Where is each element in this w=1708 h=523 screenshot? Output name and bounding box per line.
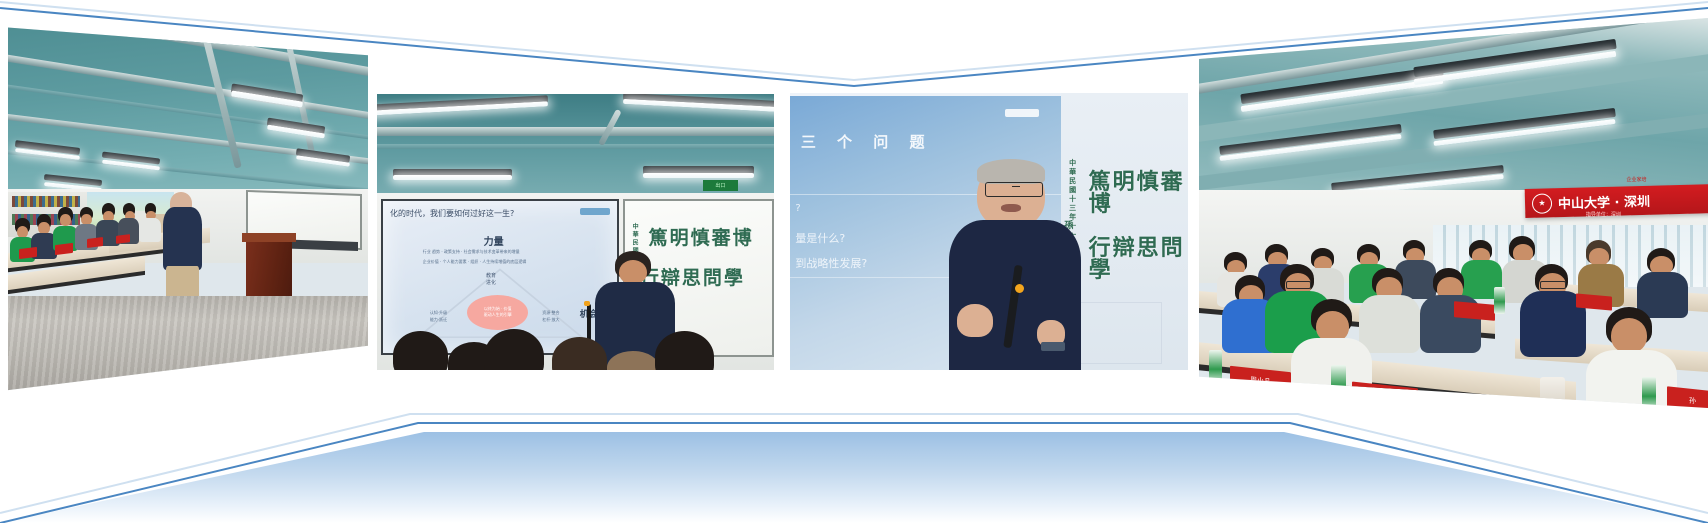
water-bottle: [1209, 350, 1222, 385]
slide-center-circle: 以终为始 · 价值 驱动人生的引擎: [467, 295, 528, 330]
slide-title: 化的时代，我们要如何过好这一生?: [390, 208, 514, 219]
slide-title: 三 个 问 题: [801, 131, 933, 152]
slide-node-right: 资源·整合 杠杆·放大: [542, 310, 559, 323]
name-card: 周小凡: [1230, 366, 1291, 396]
glasses-icon: [1286, 281, 1311, 289]
glasses-icon: [1540, 281, 1566, 289]
name-card: [19, 247, 37, 259]
water-bottle: [1494, 287, 1505, 314]
name-card: [1454, 301, 1495, 320]
bottom-gradient-panel: [0, 393, 1708, 523]
slide-node-top: 教育 进化: [486, 272, 496, 286]
photo-audience-seated[interactable]: ★ 中山大学 · 深圳 企业家培 指导单位：深圳: [1199, 18, 1708, 408]
photo-speaker-portrait[interactable]: 三 个 问 题 ? 量是什么? 到战略性发展? 篤明慎審博 行辯思問學 中華民國…: [790, 93, 1188, 370]
name-card: [1576, 293, 1612, 310]
slide-line-1: ?: [795, 203, 800, 214]
slide-logo: [580, 208, 610, 215]
banner-top-small-text: 企业家培: [1627, 176, 1647, 183]
banner-main-text: 中山大学 · 深圳: [1558, 191, 1650, 212]
university-seal-icon: ★: [1532, 193, 1553, 214]
photo-classroom-wide-shot[interactable]: [8, 22, 368, 392]
slide-node-left: 认知·升级 能力·跃迁: [430, 310, 447, 323]
slide-line-2: 量是什么?: [795, 230, 845, 246]
calligraphy-line-bottom: 行辯思問學: [1089, 237, 1188, 282]
calligraphy-line-top: 篤明慎審博: [649, 229, 754, 248]
name-card: [116, 234, 130, 244]
slide-top-label: 力量: [484, 233, 504, 248]
calligraphy-line-top: 篤明慎審博: [1089, 171, 1188, 216]
banner-stage: 出口 化的时代，我们要如何过好这一生? 力量 行业 趋势 · 政策支持 · 社会…: [0, 0, 1708, 523]
photo-speaker-with-slide[interactable]: 出口 化的时代，我们要如何过好这一生? 力量 行业 趋势 · 政策支持 · 社会…: [377, 94, 774, 370]
exit-sign: 出口: [703, 180, 739, 191]
glasses-icon: [985, 182, 1043, 198]
slide-top-sub-1: 行业 趋势 · 政策支持 · 社会需求与技术变革带来的增量: [423, 249, 520, 255]
slide-line-3: 到战略性发展?: [795, 255, 867, 271]
slide-logo: [1005, 109, 1039, 117]
banner-bottom-small-text: 指导单位：深圳: [1586, 211, 1621, 218]
